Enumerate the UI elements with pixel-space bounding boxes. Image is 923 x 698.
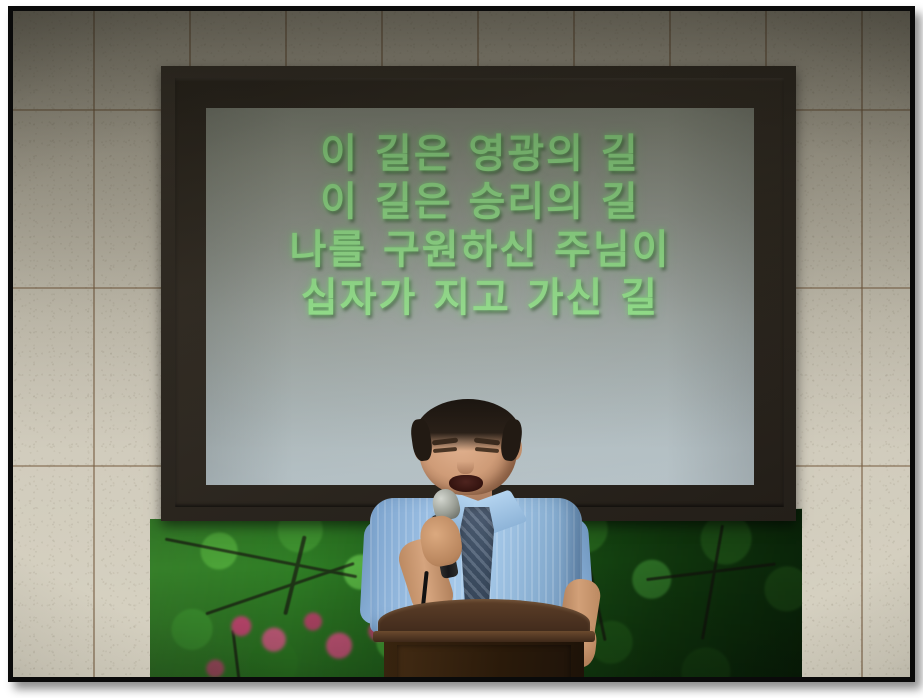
photograph: 이 길은 영광의 길 이 길은 승리의 길 나를 구원하신 주님이 십자가 지고… (8, 6, 915, 682)
photo-scene: 이 길은 영광의 길 이 길은 승리의 길 나를 구원하신 주님이 십자가 지고… (13, 11, 910, 677)
scene-lighting (13, 11, 910, 677)
